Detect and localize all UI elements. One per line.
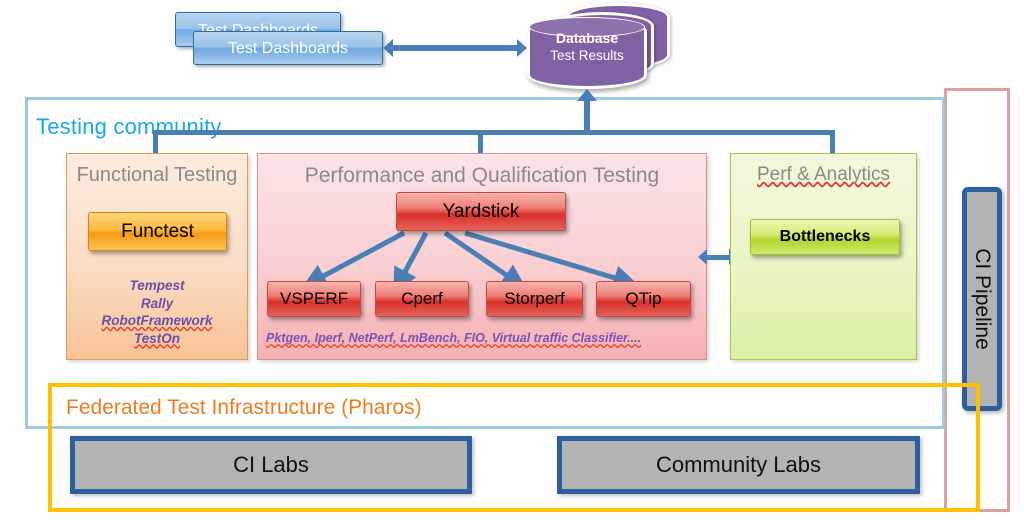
- tool-storperf[interactable]: Storperf: [486, 281, 583, 317]
- panel-performance-testing: Performance and Qualification Testing: [257, 153, 707, 360]
- database-title: Database: [527, 30, 647, 47]
- bus-drop-performance: [478, 130, 483, 155]
- functional-subtool-list: Tempest Rally RobotFramework TestOn: [66, 277, 248, 347]
- bus-drop-analytics: [830, 130, 835, 155]
- tool-cperf[interactable]: Cperf: [375, 281, 469, 317]
- dashboard-database-connector: [390, 45, 524, 51]
- test-dashboards-box-front[interactable]: Test Dashboards: [193, 31, 383, 65]
- bus-to-database-line: [584, 100, 590, 134]
- tool-functest[interactable]: Functest: [88, 212, 227, 251]
- subtool-teston: TestOn: [66, 330, 248, 348]
- tool-bottlenecks[interactable]: Bottlenecks: [750, 219, 900, 255]
- arrow-left-icon: [698, 249, 707, 265]
- subtool-robotframework: RobotFramework: [66, 312, 248, 330]
- panel-performance-title: Performance and Qualification Testing: [258, 164, 706, 188]
- tool-yardstick[interactable]: Yardstick: [396, 192, 566, 231]
- panel-analytics-title: Perf & Analytics: [731, 164, 916, 186]
- community-labs-box[interactable]: Community Labs: [557, 436, 920, 494]
- arrow-right-icon: [517, 39, 527, 57]
- ci-labs-box[interactable]: CI Labs: [70, 436, 472, 494]
- panel-perf-analytics: Perf & Analytics: [730, 153, 917, 360]
- ci-pipeline-label: CI Pipeline: [970, 248, 994, 350]
- panels-bus-line: [155, 130, 833, 135]
- database-subtitle: Test Results: [527, 47, 647, 64]
- pharos-label: Federated Test Infrastructure (Pharos): [66, 393, 566, 423]
- testing-community-label: Testing community: [36, 112, 336, 142]
- panel-functional-title: Functional Testing: [67, 164, 247, 187]
- arrow-left-icon: [383, 39, 393, 57]
- tool-vsperf[interactable]: VSPERF: [267, 281, 361, 317]
- ci-pipeline-box[interactable]: CI Pipeline: [962, 187, 1002, 411]
- diagram-canvas: Testing community Test Dashboards Test D…: [0, 0, 1024, 523]
- ci-pipeline-text-wrap: CI Pipeline: [967, 192, 997, 406]
- tool-qtip[interactable]: QTip: [596, 281, 691, 317]
- performance-subtool-list: Pktgen, Iperf, NetPerf, LmBench, FIO, Vi…: [266, 331, 698, 345]
- subtool-rally: Rally: [66, 295, 248, 313]
- subtool-tempest: Tempest: [66, 277, 248, 295]
- database-label: Database Test Results: [527, 30, 647, 78]
- arrow-up-icon: [577, 89, 597, 101]
- bus-drop-functional: [153, 130, 158, 155]
